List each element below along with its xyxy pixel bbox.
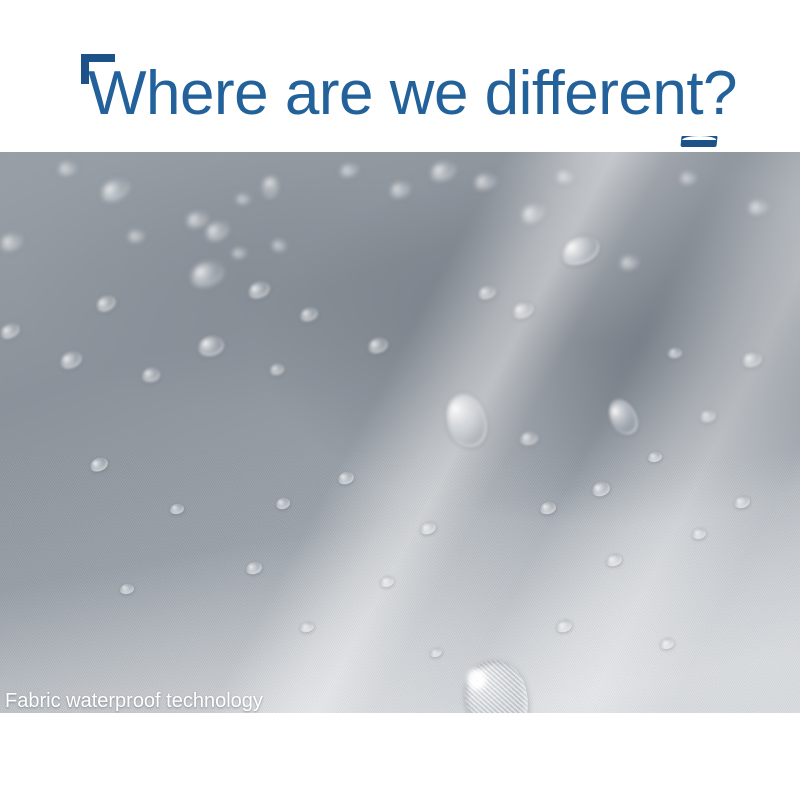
water-droplet bbox=[510, 298, 537, 322]
water-droplet bbox=[88, 455, 110, 474]
water-droplet bbox=[388, 178, 412, 200]
water-droplet bbox=[439, 388, 493, 453]
water-droplet bbox=[733, 494, 752, 510]
feature-slide: Where are we different? Fabric waterproo… bbox=[0, 0, 800, 800]
water-droplet bbox=[0, 230, 24, 254]
water-droplet bbox=[231, 247, 247, 260]
water-droplet bbox=[519, 430, 539, 446]
water-droplet bbox=[127, 228, 146, 244]
water-droplet bbox=[0, 320, 22, 342]
fabric-weave-texture bbox=[0, 152, 800, 713]
water-droplet bbox=[269, 362, 286, 377]
water-droplet bbox=[428, 158, 459, 184]
water-droplet bbox=[169, 503, 185, 516]
water-droplet bbox=[555, 168, 575, 184]
water-droplet bbox=[590, 479, 612, 499]
water-droplet bbox=[647, 450, 663, 463]
water-droplet bbox=[679, 170, 697, 186]
water-droplet bbox=[260, 175, 280, 199]
water-droplet bbox=[57, 160, 78, 177]
water-droplet bbox=[272, 240, 286, 251]
water-droplet bbox=[604, 552, 623, 569]
water-droplet bbox=[603, 394, 644, 440]
water-droplet bbox=[58, 348, 85, 372]
water-droplet bbox=[746, 197, 769, 216]
water-droplet bbox=[366, 335, 390, 356]
slide-footer bbox=[0, 713, 800, 800]
slide-header: Where are we different? bbox=[0, 0, 800, 152]
water-droplet bbox=[336, 470, 355, 487]
water-droplet bbox=[245, 560, 264, 576]
page-title: Where are we different? bbox=[88, 58, 737, 130]
water-droplet bbox=[740, 349, 764, 369]
water-droplet bbox=[667, 347, 683, 359]
water-droplet bbox=[517, 198, 549, 227]
water-droplet bbox=[379, 574, 395, 588]
water-droplet bbox=[298, 305, 319, 323]
dash-mark-icon bbox=[680, 136, 717, 147]
water-droplet bbox=[418, 519, 437, 536]
water-droplet bbox=[235, 193, 251, 205]
water-droplet bbox=[619, 254, 640, 271]
water-droplet bbox=[184, 209, 210, 231]
water-droplet bbox=[556, 229, 604, 271]
hero-water-droplet bbox=[458, 654, 536, 713]
water-droplet bbox=[275, 496, 292, 511]
water-droplet bbox=[94, 292, 119, 315]
water-droplet bbox=[659, 636, 675, 650]
water-droplet bbox=[187, 257, 228, 292]
water-droplet bbox=[97, 174, 133, 206]
water-droplet bbox=[476, 283, 497, 301]
fabric-waterproof-photo: Fabric waterproof technology Waterproof … bbox=[0, 152, 800, 713]
water-droplet bbox=[539, 500, 558, 516]
water-droplet bbox=[246, 278, 273, 302]
water-droplet bbox=[691, 526, 707, 540]
fabric-technology-label: Fabric waterproof technology bbox=[5, 688, 335, 713]
water-droplet bbox=[472, 171, 498, 192]
water-droplet bbox=[299, 620, 315, 633]
water-droplet bbox=[429, 646, 443, 658]
water-droplet bbox=[338, 161, 359, 178]
water-droplet bbox=[554, 618, 573, 635]
water-droplet bbox=[141, 366, 162, 384]
water-droplet bbox=[698, 408, 717, 425]
water-droplet bbox=[196, 333, 227, 359]
water-droplet bbox=[119, 583, 135, 596]
